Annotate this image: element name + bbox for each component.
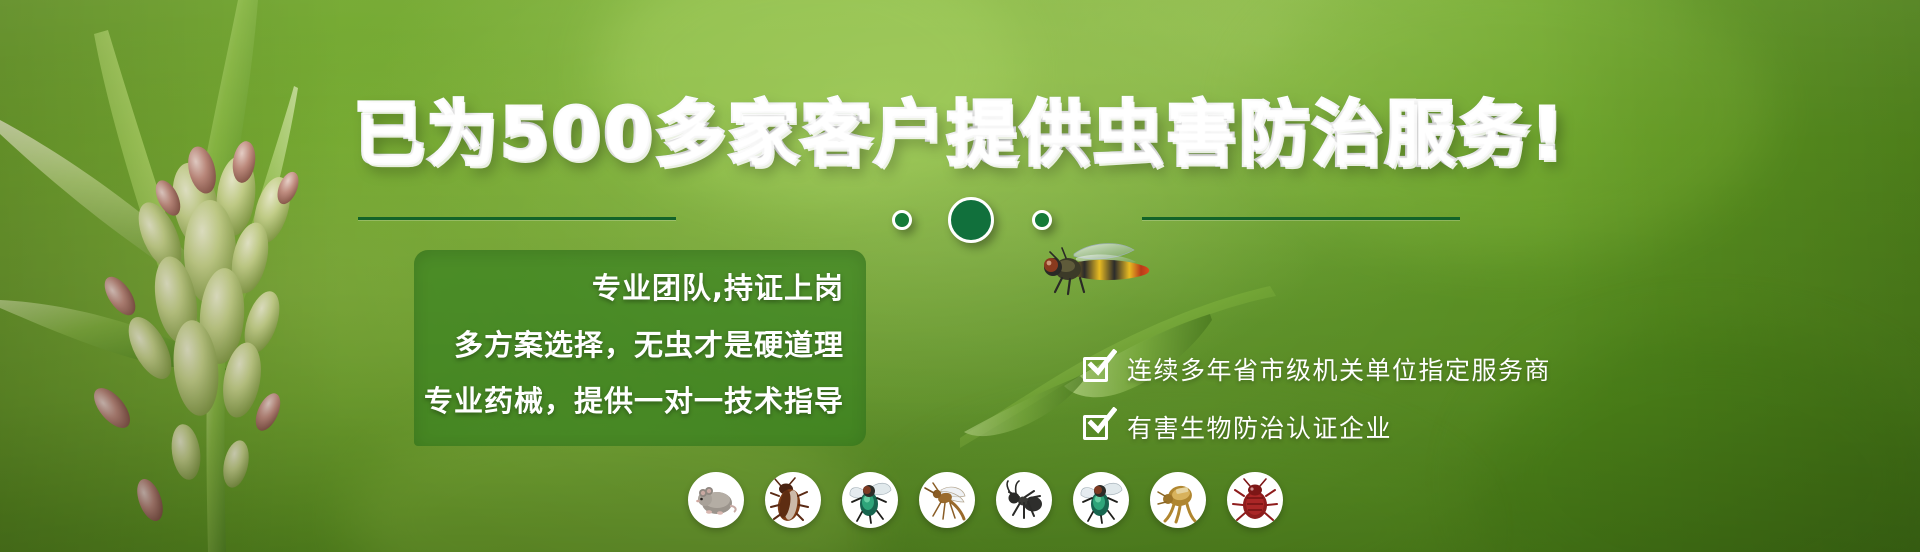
hoverfly-illustration [1040,238,1170,308]
divider [0,200,1920,236]
fly-icon[interactable] [842,472,898,528]
page-title-text: 已为500多家客户提供虫害防治服务! [354,93,1566,175]
bedbug-icon[interactable] [1227,472,1283,528]
fly-icon[interactable] [1073,472,1129,528]
divider-dot-small-left [892,210,912,230]
divider-dot-small-right [1032,210,1052,230]
feature-list: 连续多年省市级机关单位指定服务商 有害生物防治认证企业 [1083,340,1551,456]
checkbox-checked-icon [1083,354,1113,384]
feature-text: 有害生物防治认证企业 [1127,409,1392,445]
pest-icon-strip [688,472,1283,528]
feature-text: 连续多年省市级机关单位指定服务商 [1127,351,1551,387]
selling-point-1: 专业团队,持证上岗 [592,265,844,307]
rodent-icon[interactable] [688,472,744,528]
selling-point-2: 多方案选择，无虫才是硬道理 [454,322,844,364]
cockroach-icon[interactable] [765,472,821,528]
list-item: 连续多年省市级机关单位指定服务商 [1083,340,1551,398]
pest-control-hero-banner: 已为500多家客户提供虫害防治服务! 专业团队,持证上岗 多方案选择，无虫才是硬… [0,0,1920,552]
divider-dot-large [948,197,994,243]
right-rule [1142,217,1460,220]
ant-icon[interactable] [996,472,1052,528]
selling-point-3: 专业药械，提供一对一技术指导 [424,378,844,420]
page-title: 已为500多家客户提供虫害防治服务! [0,78,1920,179]
checkbox-checked-icon [1083,412,1113,442]
list-item: 有害生物防治认证企业 [1083,398,1551,456]
flea-icon[interactable] [1150,472,1206,528]
left-rule [358,217,676,220]
mosquito-icon[interactable] [919,472,975,528]
selling-points-panel: 专业团队,持证上岗 多方案选择，无虫才是硬道理 专业药械，提供一对一技术指导 [414,250,866,446]
